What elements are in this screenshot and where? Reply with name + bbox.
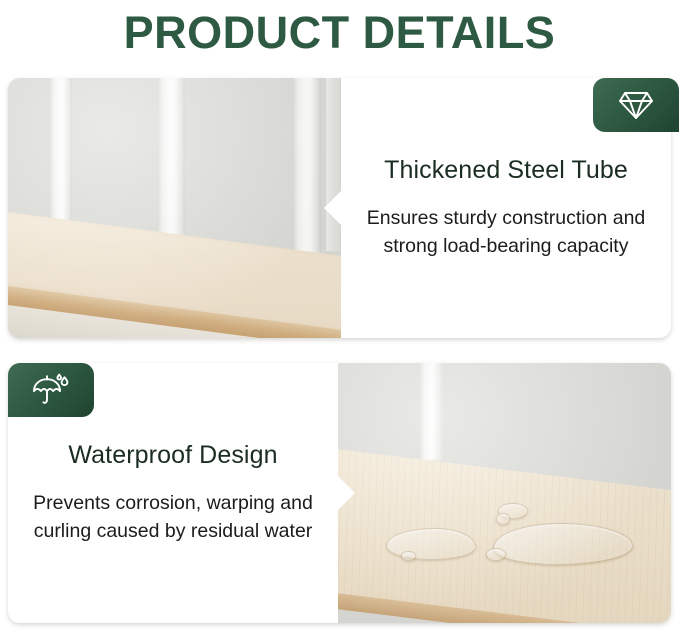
feature-card-waterproof: Waterproof Design Prevents corrosion, wa…: [8, 363, 671, 623]
umbrella-rain-icon: [31, 373, 71, 407]
diamond-icon: [619, 90, 653, 120]
water-droplet: [496, 513, 510, 525]
water-puddle-left: [386, 528, 476, 560]
badge-umbrella: [8, 363, 94, 417]
feature-image-steel-tube: [8, 78, 341, 338]
water-puddle-main: [493, 523, 633, 565]
feature-body: Prevents corrosion, warping and curling …: [30, 490, 316, 545]
feature-body: Ensures sturdy construction and strong l…: [363, 205, 649, 260]
wood-shelf: [8, 208, 341, 328]
water-droplet: [486, 548, 506, 561]
feature-image-waterproof: [338, 363, 671, 623]
feature-heading: Thickened Steel Tube: [384, 156, 628, 185]
water-droplet: [401, 551, 416, 561]
feature-card-steel-tube: Thickened Steel Tube Ensures sturdy cons…: [8, 78, 671, 338]
feature-heading: Waterproof Design: [68, 441, 277, 470]
page-title: PRODUCT DETAILS: [0, 0, 679, 70]
badge-diamond: [593, 78, 679, 132]
